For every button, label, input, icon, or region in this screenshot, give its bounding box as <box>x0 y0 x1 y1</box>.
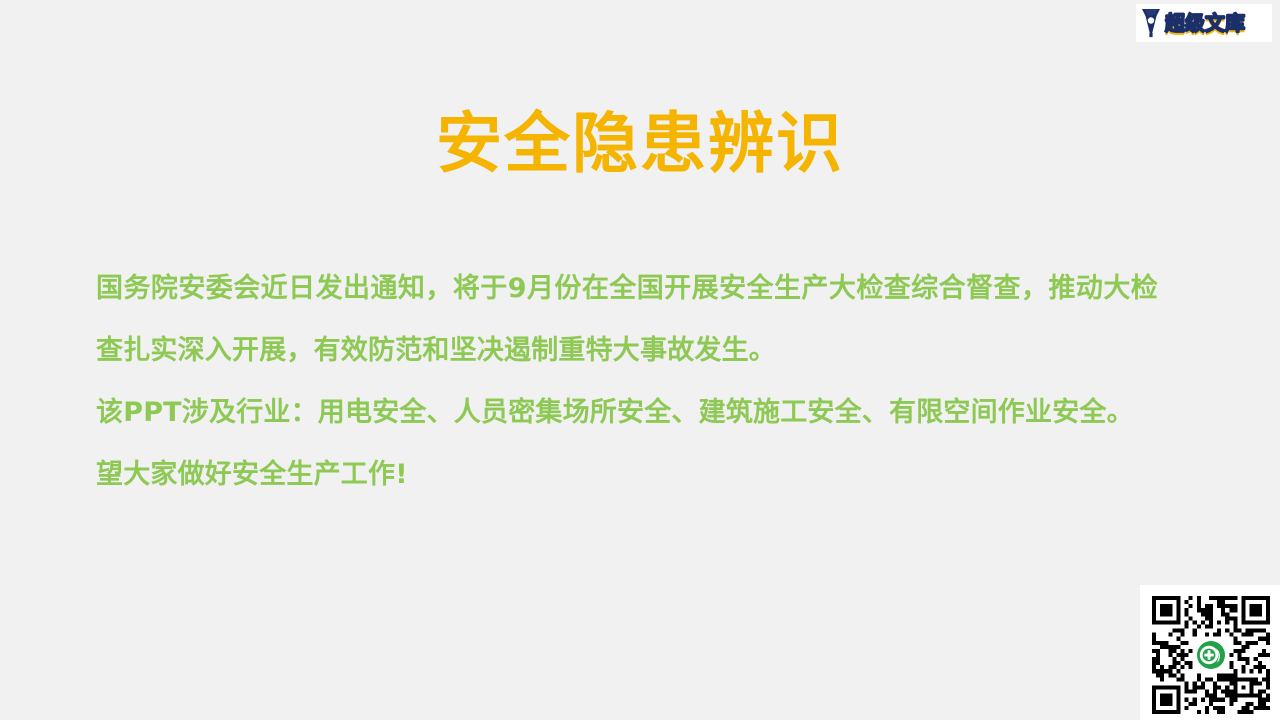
page-title: 安全隐患辨识 <box>0 106 1280 182</box>
qr-code-image <box>1152 596 1270 714</box>
body-paragraph-1: 国务院安委会近日发出通知，将于9月份在全国开展安全生产大检查综合督查，推动大检查… <box>96 258 1158 382</box>
brand-name: 超级文库 <box>1165 13 1245 33</box>
body-copy: 国务院安委会近日发出通知，将于9月份在全国开展安全生产大检查综合督查，推动大检查… <box>96 258 1158 506</box>
green-cross-laurel-icon <box>1194 638 1228 672</box>
slide-canvas: 超级文库 安全隐患辨识 国务院安委会近日发出通知，将于9月份在全国开展安全生产大… <box>0 0 1280 720</box>
body-paragraph-3: 望大家做好安全生产工作! <box>96 444 1158 506</box>
body-paragraph-2: 该PPT涉及行业：用电安全、人员密集场所安全、建筑施工安全、有限空间作业安全。 <box>96 382 1158 444</box>
pen-nib-icon <box>1140 8 1162 38</box>
brand-watermark: 超级文库 <box>1136 4 1272 42</box>
qr-code-panel <box>1140 585 1280 720</box>
